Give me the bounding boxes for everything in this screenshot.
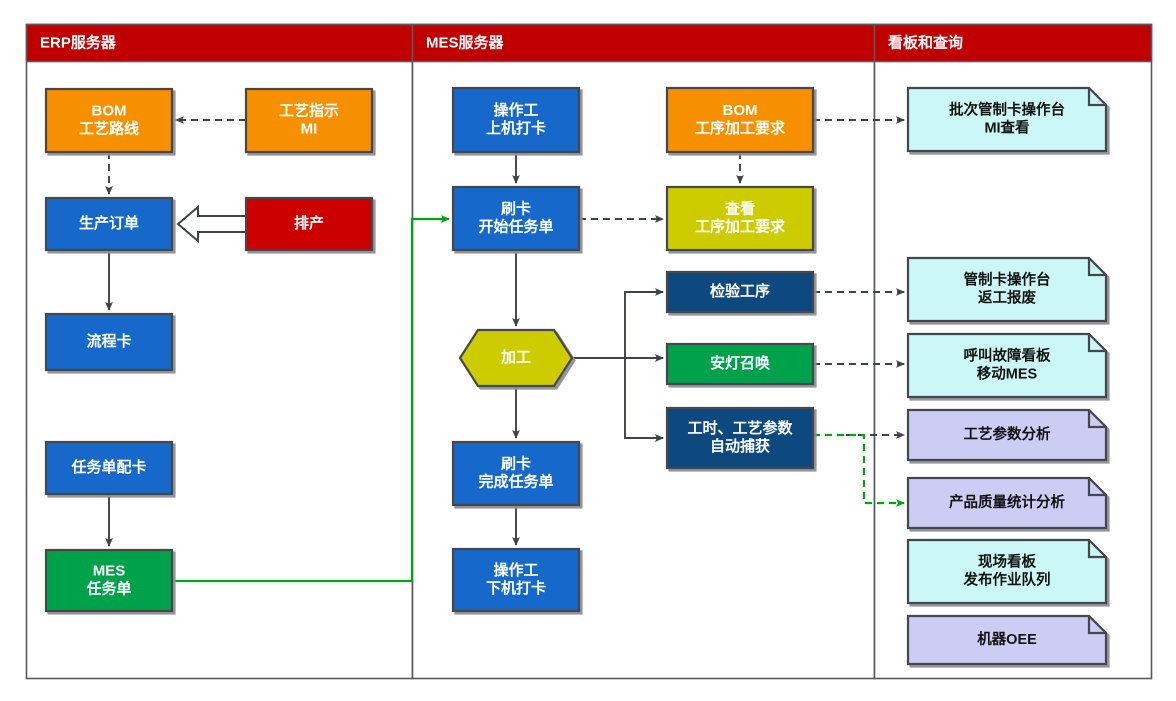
node-label-op_clock_out: 操作工: [493, 561, 538, 579]
node-quality_stats[interactable]: 产品质量统计分析: [908, 478, 1106, 528]
node-bom_route[interactable]: BOM工艺路线: [46, 89, 172, 152]
node-card_rework[interactable]: 管制卡操作台返工报废: [908, 258, 1106, 321]
node-site_board[interactable]: 现场看板发布作业队列: [908, 540, 1106, 603]
node-label-param_analysis: 工艺参数分析: [964, 425, 1051, 443]
node-label-swipe_start: 开始任务单: [478, 217, 553, 235]
panel-title-mes: MES服务器: [426, 33, 505, 51]
node-label-fault_board: 呼叫故障看板: [964, 346, 1051, 364]
node-swipe_finish[interactable]: 刷卡完成任务单: [453, 442, 579, 505]
node-label-andon_call: 安灯召唤: [710, 354, 770, 372]
node-label-inspect_op: 检验工序: [710, 282, 770, 300]
node-label-batch_card_mi: MI查看: [984, 118, 1029, 136]
node-mes_task[interactable]: MES任务单: [46, 550, 172, 611]
node-op_clock_in[interactable]: 操作工上机打卡: [453, 88, 579, 152]
node-op_clock_out[interactable]: 操作工下机打卡: [453, 549, 579, 611]
node-machining[interactable]: 加工: [460, 330, 572, 386]
node-label-mi: MI: [301, 120, 318, 137]
node-label-op_clock_out: 下机打卡: [486, 579, 546, 597]
node-param_analysis[interactable]: 工艺参数分析: [908, 410, 1106, 460]
node-label-quality_stats: 产品质量统计分析: [949, 493, 1065, 511]
node-batch_card_mi[interactable]: 批次管制卡操作台MI查看: [908, 88, 1106, 151]
node-fault_board[interactable]: 呼叫故障看板移动MES: [908, 334, 1106, 397]
node-scheduling[interactable]: 排产: [246, 198, 372, 250]
node-task_card_assign[interactable]: 任务单配卡: [46, 442, 172, 494]
node-label-bom_route: 工艺路线: [79, 119, 139, 137]
node-label-scheduling: 排产: [294, 214, 324, 232]
node-prod_order[interactable]: 生产订单: [46, 198, 172, 250]
node-label-swipe_start: 刷卡: [501, 199, 531, 217]
node-flow_card[interactable]: 流程卡: [46, 314, 172, 370]
node-label-swipe_finish: 完成任务单: [478, 472, 553, 490]
node-label-batch_card_mi: 批次管制卡操作台: [949, 100, 1065, 118]
panel-title-erp: ERP服务器: [40, 33, 117, 51]
node-label-mes_task: 任务单: [85, 579, 131, 597]
node-label-card_rework: 管制卡操作台: [964, 270, 1051, 288]
node-label-bom_op_req: 工序加工要求: [695, 119, 786, 137]
node-mi[interactable]: 工艺指示MI: [246, 89, 372, 152]
node-label-view_op_req: 工序加工要求: [695, 217, 786, 235]
node-swipe_start[interactable]: 刷卡开始任务单: [453, 187, 579, 250]
node-label-site_board: 现场看板: [978, 552, 1036, 570]
node-label-machine_oee: 机器OEE: [977, 630, 1037, 648]
panel-title-board: 看板和查询: [888, 33, 963, 51]
node-label-site_board: 发布作业队列: [963, 570, 1051, 588]
node-machine_oee[interactable]: 机器OEE: [908, 616, 1106, 664]
node-label-flow_card: 流程卡: [86, 332, 131, 350]
node-andon_call[interactable]: 安灯召唤: [667, 344, 813, 384]
diagram-canvas: ERP服务器MES服务器看板和查询 BOM工艺路线工艺指示MI生产订单排产流程卡…: [0, 0, 1176, 701]
node-label-bom_op_req: BOM: [723, 102, 758, 119]
node-label-mi: 工艺指示: [279, 101, 339, 119]
node-label-view_op_req: 查看: [725, 199, 755, 217]
node-label-swipe_finish: 刷卡: [501, 454, 531, 472]
node-inspect_op[interactable]: 检验工序: [667, 272, 813, 312]
node-label-op_clock_in: 上机打卡: [486, 119, 546, 137]
node-view_op_req[interactable]: 查看工序加工要求: [667, 187, 813, 250]
node-param_capture[interactable]: 工时、工艺参数自动捕获: [667, 408, 813, 468]
node-label-mes_task: MES: [93, 562, 126, 579]
node-label-card_rework: 返工报废: [978, 288, 1036, 306]
node-bom_op_req[interactable]: BOM工序加工要求: [667, 88, 813, 152]
node-label-op_clock_in: 操作工: [493, 101, 538, 119]
node-label-param_capture: 自动捕获: [710, 437, 770, 455]
node-label-task_card_assign: 任务单配卡: [70, 458, 146, 476]
node-label-machining: 加工: [500, 349, 531, 366]
node-label-prod_order: 生产订单: [79, 214, 139, 232]
node-label-bom_route: BOM: [92, 102, 127, 119]
node-label-param_capture: 工时、工艺参数: [687, 419, 793, 437]
node-label-fault_board: 移动MES: [977, 364, 1038, 382]
flowchart-svg: ERP服务器MES服务器看板和查询 BOM工艺路线工艺指示MI生产订单排产流程卡…: [0, 0, 1176, 701]
